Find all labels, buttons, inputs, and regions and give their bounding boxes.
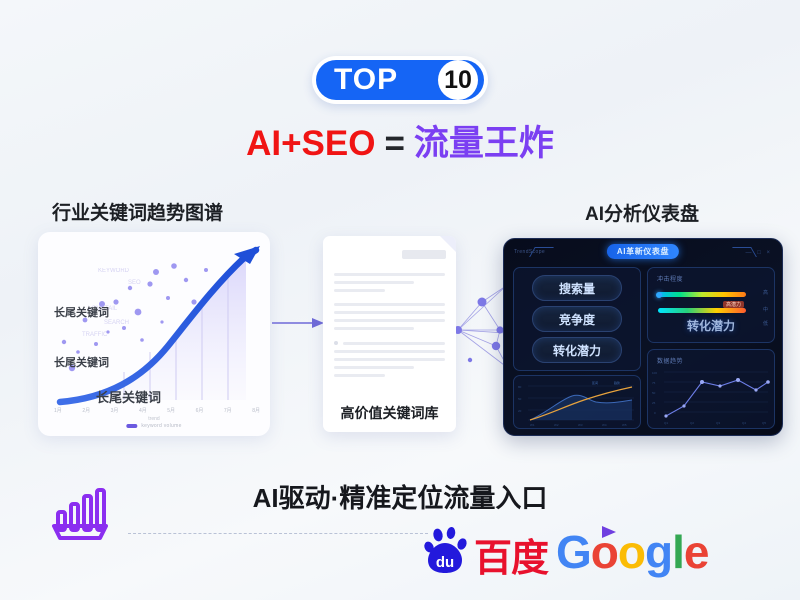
document-header-block bbox=[402, 250, 446, 259]
svg-text:TRAFFIC: TRAFFIC bbox=[82, 332, 108, 338]
trend-keyword-label-3: 长尾关键词 bbox=[96, 387, 161, 406]
gauge-tick: 中 bbox=[763, 306, 768, 313]
svg-text:Q5: Q5 bbox=[762, 421, 766, 425]
gauge-bar-primary bbox=[658, 292, 746, 297]
x-tick: 2月 bbox=[82, 407, 90, 414]
doc-line bbox=[334, 319, 445, 322]
data-trend-chart: 10075 50250 Q1Q2 Q3Q4Q5 bbox=[648, 350, 774, 428]
gauge-tag: 高潜力 bbox=[723, 301, 744, 308]
svg-text:SEO: SEO bbox=[128, 280, 141, 286]
doc-bullet-line bbox=[334, 341, 445, 345]
x-tick: 6月 bbox=[196, 407, 204, 414]
x-tick: 5月 bbox=[167, 407, 175, 414]
svg-text:Q1: Q1 bbox=[664, 421, 668, 425]
svg-text:W5: W5 bbox=[622, 423, 627, 427]
dashboard-title-badge: AI革新仪表盘 bbox=[607, 244, 679, 259]
footer-dashed-connector bbox=[128, 533, 428, 535]
growth-area-panel: W1W2 W3W4W5 805020 区间趋势 bbox=[513, 375, 641, 429]
growth-area-chart: W1W2 W3W4W5 805020 区间趋势 bbox=[514, 376, 640, 428]
svg-text:50: 50 bbox=[518, 397, 522, 401]
google-letter-o2: o bbox=[618, 526, 645, 578]
top-label: TOP bbox=[334, 65, 398, 95]
svg-text:75: 75 bbox=[652, 381, 656, 385]
window-controls[interactable]: — □ × bbox=[746, 250, 772, 256]
svg-text:W3: W3 bbox=[578, 423, 583, 427]
slide-canvas: TOP 10 AI+SEO=流量王炸 行业关键词趋势图谱 AI分析仪表盘 bbox=[0, 0, 800, 600]
data-trend-panel: 数据趋势 10075 50250 bbox=[647, 349, 775, 429]
dashboard-topbar: AI革新仪表盘 TrendScope — □ × bbox=[504, 239, 782, 263]
svg-text:区间: 区间 bbox=[592, 380, 598, 385]
x-tick: 1月 bbox=[54, 407, 62, 414]
trend-keyword-label-2: 长尾关键词 bbox=[54, 354, 109, 370]
legend-swatch-icon bbox=[126, 424, 137, 428]
legend-label: keyword volume bbox=[141, 423, 181, 429]
trend-x-axis: 1月 2月 3月 4月 5月 6月 7月 8月 bbox=[54, 407, 260, 414]
flow-arrow-icon bbox=[272, 316, 324, 330]
x-tick: 7月 bbox=[224, 407, 232, 414]
title-purple-part: 流量王炸 bbox=[414, 124, 554, 163]
metric-pill-search-volume[interactable]: 搜索量 bbox=[532, 275, 622, 301]
svg-text:25: 25 bbox=[652, 401, 656, 405]
bullet-dot-icon bbox=[334, 341, 338, 345]
svg-text:W4: W4 bbox=[602, 423, 607, 427]
doc-line bbox=[334, 366, 414, 369]
doc-line bbox=[334, 273, 445, 276]
left-section-caption: 行业关键词趋势图谱 bbox=[52, 198, 223, 225]
svg-text:Q4: Q4 bbox=[742, 421, 746, 425]
svg-text:SEARCH: SEARCH bbox=[104, 320, 129, 326]
svg-text:100: 100 bbox=[652, 371, 657, 375]
trend-axis-sublabel: trend bbox=[148, 416, 159, 422]
doc-line bbox=[334, 289, 385, 292]
svg-text:KEYWORD: KEYWORD bbox=[98, 268, 130, 274]
right-section-caption: AI分析仪表盘 bbox=[585, 199, 699, 226]
gauge-bar-secondary bbox=[658, 308, 746, 313]
svg-text:W2: W2 bbox=[554, 423, 559, 427]
footer-tagline: AI驱动·精准定位流量入口 bbox=[0, 478, 800, 515]
x-tick: 8月 bbox=[252, 407, 260, 414]
dashboard-brand: TrendScope bbox=[514, 249, 545, 255]
doc-line bbox=[334, 327, 414, 330]
doc-line bbox=[334, 281, 414, 284]
document-text-lines bbox=[334, 273, 445, 382]
google-letter-o1: o bbox=[591, 526, 618, 578]
title-red-part: AI+SEO bbox=[246, 124, 375, 163]
svg-text:50: 50 bbox=[652, 391, 656, 395]
metric-pill-conversion[interactable]: 转化潜力 bbox=[532, 337, 622, 363]
baidu-du-text: du bbox=[436, 554, 454, 571]
baidu-wordmark: 百度 bbox=[474, 541, 548, 577]
svg-text:W1: W1 bbox=[530, 423, 535, 427]
doc-line bbox=[334, 350, 445, 353]
metric-pills-panel: 搜索量 竞争度 转化潜力 bbox=[513, 267, 641, 371]
doc-line bbox=[334, 303, 445, 306]
top-number: 10 bbox=[438, 60, 478, 100]
svg-text:80: 80 bbox=[518, 385, 522, 389]
google-letter-G: G bbox=[556, 526, 591, 578]
svg-text:趋势: 趋势 bbox=[614, 380, 620, 385]
google-letter-e: e bbox=[684, 526, 709, 578]
trend-legend: keyword volume bbox=[126, 423, 181, 429]
top-rank-badge: TOP 10 bbox=[312, 56, 488, 104]
google-logo: Google bbox=[556, 529, 708, 575]
document-caption: 高价值关键词库 bbox=[323, 403, 456, 423]
gauge-overlay-label: 转化潜力 bbox=[648, 317, 774, 334]
svg-text:Q2: Q2 bbox=[690, 421, 694, 425]
baidu-logo: du 百度 bbox=[424, 527, 548, 577]
doc-line bbox=[343, 342, 445, 345]
google-letter-g: g bbox=[645, 526, 672, 578]
svg-text:Q3: Q3 bbox=[716, 421, 720, 425]
x-tick: 3月 bbox=[111, 407, 119, 414]
search-engine-logos: du 百度 Google bbox=[424, 522, 709, 582]
ai-dashboard: AI革新仪表盘 TrendScope — □ × 搜索量 竞争度 转化潜力 冲击… bbox=[503, 238, 783, 436]
trend-keyword-label-1: 长尾关键词 bbox=[54, 304, 109, 320]
doc-line bbox=[334, 311, 445, 314]
impact-gauge-title: 冲击程度 bbox=[657, 274, 683, 283]
gauge-tick: 高 bbox=[763, 289, 768, 296]
svg-text:0: 0 bbox=[654, 411, 656, 415]
google-letter-l: l bbox=[672, 526, 684, 578]
trend-chart-card: KEYWORD SEO LONGTAIL SEARCH TRAFFIC 长尾关键… bbox=[38, 232, 270, 436]
bar-chart-icon bbox=[48, 482, 112, 544]
impact-gauge-panel: 冲击程度 高潜力 高 中 低 转化潜力 bbox=[647, 267, 775, 343]
doc-line bbox=[334, 358, 445, 361]
top-rank-badge-inner: TOP 10 bbox=[316, 60, 484, 100]
gauge-marker-icon bbox=[656, 292, 662, 298]
x-tick: 4月 bbox=[139, 407, 147, 414]
baidu-paw-icon: du bbox=[424, 527, 474, 577]
doc-line bbox=[334, 374, 385, 377]
page-title: AI+SEO=流量王炸 bbox=[0, 126, 800, 161]
metric-pill-competition[interactable]: 竞争度 bbox=[532, 306, 622, 332]
keyword-library-document: 高价值关键词库 bbox=[323, 236, 456, 432]
title-equals: = bbox=[384, 124, 404, 163]
svg-text:20: 20 bbox=[518, 409, 522, 413]
